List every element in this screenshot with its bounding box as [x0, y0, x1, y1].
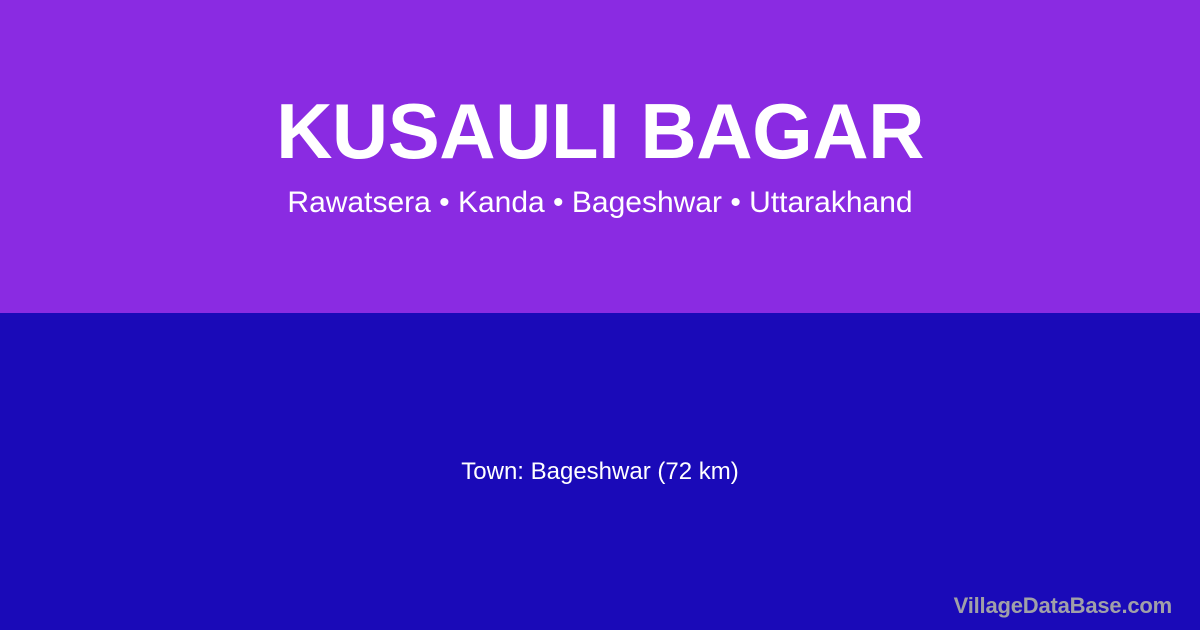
header-section: KUSAULI BAGAR Rawatsera • Kanda • Bagesh… [0, 0, 1200, 313]
nearest-town-detail: Town: Bageshwar (72 km) [421, 456, 778, 487]
breadcrumb: Rawatsera • Kanda • Bageshwar • Uttarakh… [257, 185, 942, 221]
site-watermark: VillageDataBase.com [954, 591, 1172, 622]
main-content-section: Town: Bageshwar (72 km) [0, 313, 1200, 630]
page-title: KUSAULI BAGAR [236, 92, 964, 172]
village-info-card: KUSAULI BAGAR Rawatsera • Kanda • Bagesh… [0, 0, 1200, 630]
